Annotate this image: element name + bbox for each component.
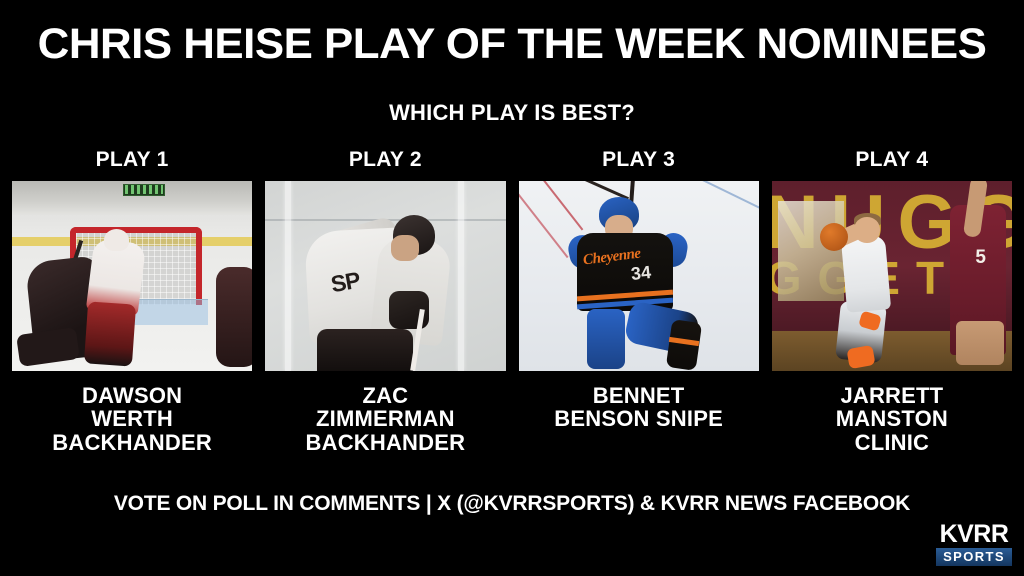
jersey-text: SP <box>329 267 362 299</box>
defender-legs <box>956 321 1004 365</box>
play-caption-1: DAWSON WERTH BACKHANDER <box>52 384 212 454</box>
play-of-the-week-graphic: CHRIS HEISE PLAY OF THE WEEK NOMINEES WH… <box>0 0 1024 576</box>
caption-line: WERTH <box>52 407 212 430</box>
caption-line: BACKHANDER <box>306 431 466 454</box>
play-nominee-grid: PLAY 1 DAWSON WERTH <box>12 148 1012 484</box>
caption-line: MANSTON <box>836 407 948 430</box>
scoreboard-digits <box>125 185 163 194</box>
shooter-head <box>854 217 880 243</box>
defender-jersey-number: 5 <box>975 247 986 269</box>
caption-line: BACKHANDER <box>52 431 212 454</box>
play-card-3[interactable]: PLAY 3 Cheyenne 34 <box>519 148 759 484</box>
jersey-number: 34 <box>629 262 651 285</box>
player-leg <box>587 309 625 369</box>
player-pants <box>317 329 413 371</box>
play-label-1: PLAY 1 <box>96 148 169 172</box>
play-label-2: PLAY 2 <box>349 148 422 172</box>
caption-line: JARRETT <box>836 384 948 407</box>
play-label-3: PLAY 3 <box>602 148 675 172</box>
play-thumbnail-1[interactable] <box>12 181 252 371</box>
play-label-4: PLAY 4 <box>855 148 928 172</box>
logo-wordmark: KVRR <box>936 522 1012 547</box>
glass-stanchion <box>285 181 291 371</box>
play-card-2[interactable]: PLAY 2 SP ZAC ZIMMERMAN BACKHA <box>265 148 505 484</box>
page-subtitle: WHICH PLAY IS BEST? <box>0 100 1024 126</box>
page-title: CHRIS HEISE PLAY OF THE WEEK NOMINEES <box>0 23 1024 66</box>
caption-line: DAWSON <box>52 384 212 407</box>
caption-line: BENNET <box>554 384 723 407</box>
skater-legs <box>84 301 136 366</box>
skater-helmet <box>104 229 129 251</box>
caption-line: BENSON SNIPE <box>554 407 723 430</box>
play-thumbnail-3[interactable]: Cheyenne 34 <box>519 181 759 371</box>
play-caption-2: ZAC ZIMMERMAN BACKHANDER <box>306 384 466 454</box>
caption-line: CLINIC <box>836 431 948 454</box>
caption-line: ZAC <box>306 384 466 407</box>
play-card-4[interactable]: PLAY 4 NUGGE GGETS 5 <box>772 148 1012 484</box>
player-face <box>391 235 419 261</box>
glass-stanchion <box>458 181 464 371</box>
caption-line: ZIMMERMAN <box>306 407 466 430</box>
play-caption-3: BENNET BENSON SNIPE <box>554 384 723 431</box>
kvrr-sports-logo: KVRR SPORTS <box>936 522 1012 566</box>
vote-instructions: VOTE ON POLL IN COMMENTS | X (@KVRRSPORT… <box>0 492 1024 516</box>
logo-subtitle: SPORTS <box>936 548 1012 566</box>
shooter-figure <box>841 235 891 313</box>
wall-poster <box>778 201 844 301</box>
play-caption-4: JARRETT MANSTON CLINIC <box>836 384 948 454</box>
play-card-1[interactable]: PLAY 1 DAWSON WERTH <box>12 148 252 484</box>
play-thumbnail-2[interactable]: SP <box>265 181 505 371</box>
play-thumbnail-4[interactable]: NUGGE GGETS 5 <box>772 181 1012 371</box>
basketball-icon <box>820 223 848 251</box>
background-player <box>216 267 252 367</box>
